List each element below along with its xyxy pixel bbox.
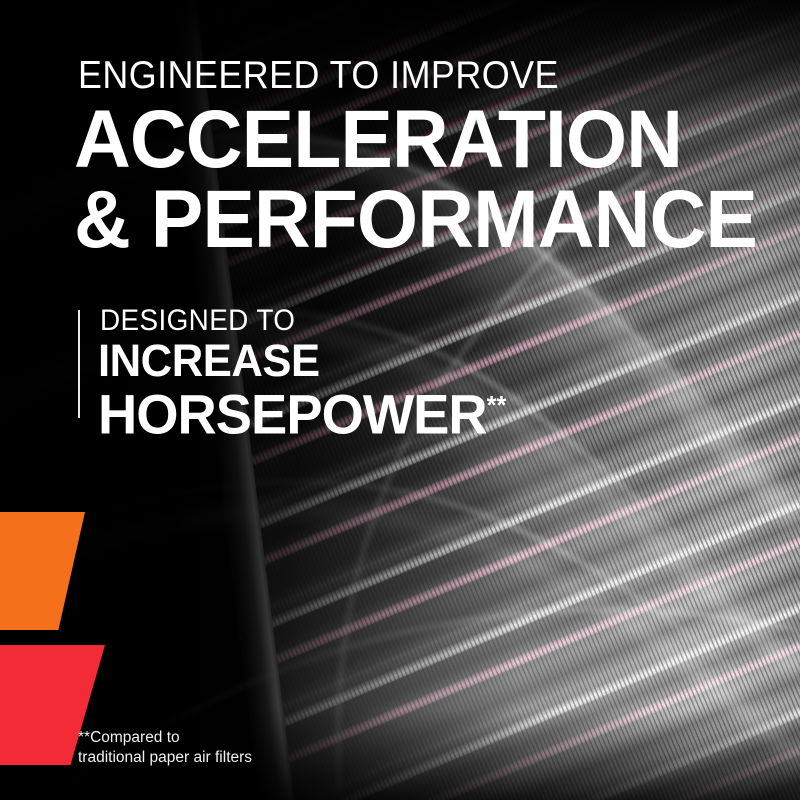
- main-headline-line2: & PERFORMANCE: [74, 180, 757, 260]
- promo-banner: ENGINEERED TO IMPROVE ACCELERATION & PER…: [0, 0, 800, 800]
- subhead-line2-text: HORSEPOWER: [98, 383, 487, 446]
- headline-eyebrow: ENGINEERED TO IMPROVE: [78, 56, 559, 95]
- subhead-line2: HORSEPOWER**: [98, 377, 506, 443]
- footnote-line1: **Compared to: [78, 728, 252, 748]
- footnote: **Compared to traditional paper air filt…: [78, 728, 252, 768]
- main-headline: ACCELERATION & PERFORMANCE: [74, 100, 757, 260]
- vertical-rule: [78, 310, 80, 418]
- subhead-eyebrow: DESIGNED TO: [100, 306, 295, 336]
- footnote-line2: traditional paper air filters: [78, 748, 252, 768]
- main-headline-line1: ACCELERATION: [74, 94, 682, 185]
- footnote-marker: **: [487, 390, 507, 420]
